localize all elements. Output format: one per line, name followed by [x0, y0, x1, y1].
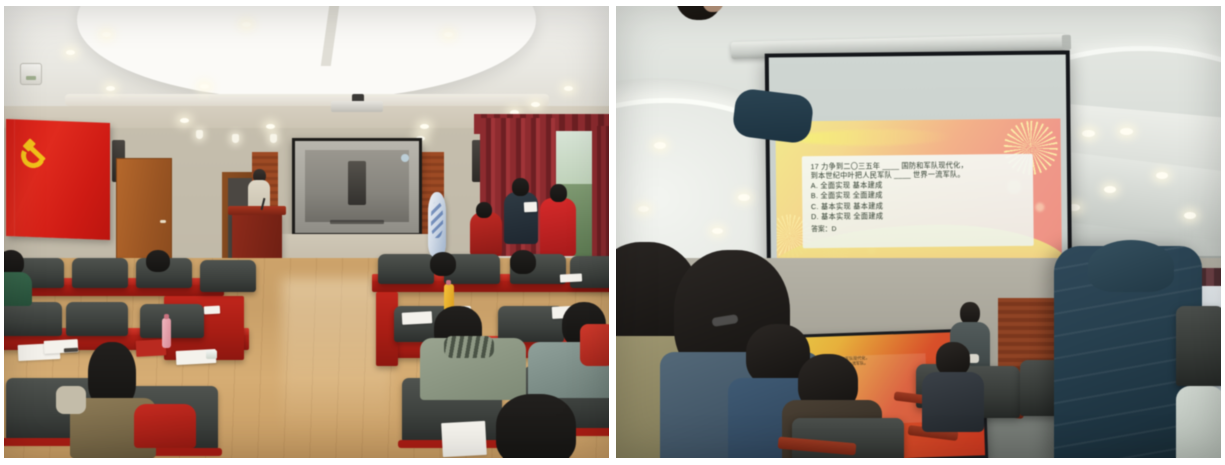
- standing-person-head: [512, 178, 529, 196]
- photo-left-conference-hall: [4, 6, 609, 458]
- standing-person-head: [476, 202, 492, 218]
- audience-chair: [140, 304, 204, 338]
- audience-chair: [570, 256, 609, 288]
- seated-person-hand: [56, 386, 86, 414]
- quiz-option-d: D. 基本实现 全面建成: [811, 210, 1024, 223]
- ceiling-projector: [331, 101, 383, 112]
- thermos-bottle: [162, 318, 171, 348]
- audience-chair: [72, 258, 128, 288]
- audience-chair: [200, 260, 256, 292]
- standing-person-body: [540, 198, 576, 256]
- quiz-slide: 17 力争到二〇三五年 ____ 国防和军队现代化， 到本世纪中叶把人民军队 _…: [775, 119, 1062, 267]
- downlight-icon: [444, 32, 453, 37]
- downlight-icon: [712, 228, 723, 234]
- downlight-icon: [654, 142, 666, 149]
- screen-video-logo: [401, 154, 409, 162]
- quiz-answer-label: 答案：D: [811, 222, 1024, 234]
- desk-papers: [441, 421, 487, 457]
- downlight-icon: [1082, 130, 1095, 137]
- audience-chair: [378, 254, 434, 284]
- image-board: 17 力争到二〇三五年 ____ 国防和军队现代化， 到本世纪中叶把人民军队 _…: [0, 0, 1225, 465]
- left-projection-screen: [292, 138, 422, 236]
- pen-icon: [64, 348, 78, 353]
- seated-person-body: [4, 272, 32, 306]
- seated-person-body: [1176, 386, 1221, 458]
- slide-ribbon-decoration: [793, 129, 953, 147]
- downlight-icon: [1156, 172, 1168, 179]
- seated-person-head: [510, 250, 536, 274]
- bokeh-dot: [1035, 203, 1044, 212]
- desk-papers: [204, 306, 220, 315]
- downlight-icon: [1104, 186, 1116, 193]
- standing-person-head: [550, 184, 567, 202]
- left-ceiling: [4, 6, 609, 118]
- downlight-icon: [242, 22, 251, 27]
- left-screen-surface: [295, 141, 419, 233]
- screen-video-caption: [330, 220, 385, 224]
- audience-seat: [1176, 306, 1221, 386]
- seated-person-body: [922, 372, 984, 432]
- handout-paper: [524, 202, 538, 213]
- red-coat-on-chair: [134, 404, 196, 448]
- downlight-icon: [1120, 128, 1133, 135]
- roller-end-cap: [1062, 35, 1071, 50]
- track-spotlight-icon: [270, 134, 277, 143]
- porcelain-vase: [428, 192, 446, 258]
- downlight-icon: [102, 32, 111, 37]
- ceiling-oval-soffit: [77, 6, 537, 100]
- track-spotlight-icon: [232, 134, 239, 143]
- downlight-icon: [66, 50, 75, 55]
- wall-control-panel: [20, 63, 42, 85]
- standing-person-body: [470, 212, 502, 256]
- screen-video-vehicle: [348, 161, 365, 205]
- seated-person-head: [936, 342, 970, 376]
- track-spotlight-icon: [196, 130, 203, 139]
- quiz-text-card: 17 力争到二〇三五年 ____ 国防和军队现代化， 到本世纪中叶把人民军队 _…: [801, 154, 1033, 248]
- audience-chair: [4, 302, 62, 336]
- paper-cup: [206, 350, 217, 359]
- downlight-icon: [106, 86, 115, 91]
- seated-person-head: [496, 394, 576, 458]
- striped-sweater: [444, 336, 494, 358]
- hammer-and-sickle-icon: [19, 140, 53, 175]
- downlight-icon: [266, 124, 275, 129]
- standing-person-body: [504, 192, 538, 244]
- foreground-person-arm: [731, 87, 814, 144]
- downlight-icon: [531, 102, 540, 107]
- downlight-icon: [180, 118, 189, 123]
- seated-person-head: [430, 252, 456, 276]
- downlight-icon: [420, 124, 429, 129]
- downlight-icon: [200, 84, 209, 89]
- podium-top: [228, 206, 286, 215]
- seated-person-body: [580, 324, 609, 366]
- desk-papers: [402, 311, 433, 325]
- ceiling-band: [65, 94, 549, 106]
- downlight-icon: [638, 206, 649, 212]
- cpc-party-flag: [6, 119, 110, 240]
- audience-chair: [66, 302, 128, 336]
- puffer-jacket-hood: [1088, 240, 1174, 292]
- desk-papers: [560, 273, 582, 282]
- floor-reflection: [282, 278, 391, 438]
- photo-right-projection-screen: 17 力争到二〇三五年 ____ 国防和军队现代化， 到本世纪中叶把人民军队 _…: [616, 6, 1221, 458]
- downlight-icon: [564, 86, 573, 91]
- seated-person-head: [146, 250, 170, 272]
- downlight-icon: [1184, 212, 1196, 219]
- downlight-icon: [738, 194, 750, 201]
- window-curtain: [592, 126, 609, 261]
